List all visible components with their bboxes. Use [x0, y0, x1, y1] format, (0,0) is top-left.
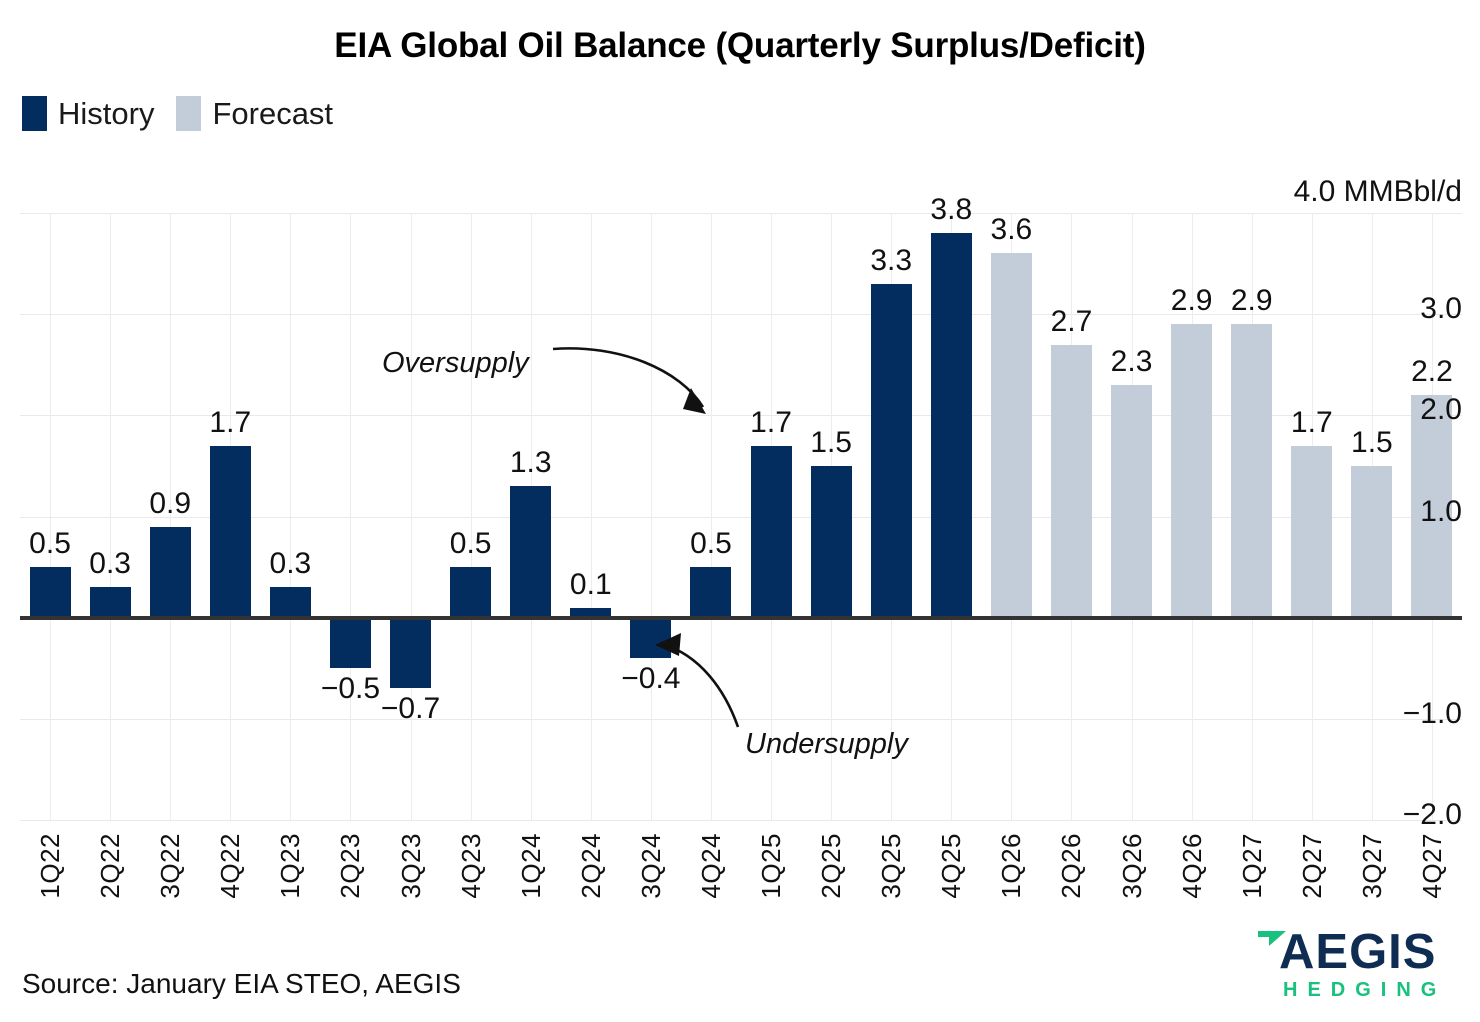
legend-swatch-forecast — [176, 96, 201, 131]
gridline-vertical — [711, 213, 712, 820]
y-tick-label: −2.0 — [1202, 798, 1462, 832]
page-title: EIA Global Oil Balance (Quarterly Surplu… — [0, 26, 1480, 66]
bar-2q26[interactable] — [1051, 345, 1092, 618]
logo-wordmark: AEGIS — [1279, 928, 1436, 977]
gridline-vertical — [110, 213, 111, 820]
x-tick-label: 1Q26 — [996, 833, 1026, 899]
x-tick-label: 2Q24 — [576, 833, 606, 899]
x-tick-label: 3Q24 — [636, 833, 666, 899]
aegis-hedging-logo: AEGIS HEDGING — [1257, 928, 1462, 1006]
x-tick-label: 3Q25 — [876, 833, 906, 899]
x-tick-label: 4Q22 — [215, 833, 245, 899]
bar-4q22[interactable] — [210, 446, 251, 618]
x-tick-label: 2Q27 — [1297, 833, 1327, 899]
x-tick-label: 1Q24 — [516, 833, 546, 899]
bar-3q24[interactable] — [630, 618, 671, 658]
bar-2q25[interactable] — [811, 466, 852, 618]
bar-4q25[interactable] — [931, 233, 972, 617]
x-tick-label: 2Q23 — [335, 833, 365, 899]
bar-value-label: 0.3 — [60, 547, 160, 581]
legend-item-history[interactable]: History — [22, 96, 154, 131]
bar-value-label: 2.2 — [1382, 355, 1480, 389]
gridline-vertical — [350, 213, 351, 820]
legend-label-history: History — [58, 98, 154, 129]
bar-4q24[interactable] — [690, 567, 731, 618]
gridline-vertical — [290, 213, 291, 820]
bar-value-label: 0.5 — [661, 527, 761, 561]
bar-value-label: 0.3 — [240, 547, 340, 581]
bar-value-label: 3.6 — [961, 213, 1061, 247]
x-tick-label: 2Q25 — [816, 833, 846, 899]
bar-value-label: 2.7 — [1021, 305, 1121, 339]
chart-legend: History Forecast — [22, 96, 333, 131]
bar-value-label: 0.5 — [421, 527, 521, 561]
x-tick-label: 4Q27 — [1417, 833, 1447, 899]
x-tick-label: 4Q24 — [696, 833, 726, 899]
x-tick-label: 1Q23 — [275, 833, 305, 899]
bar-value-label: 1.5 — [781, 426, 881, 460]
x-tick-label: 3Q27 — [1357, 833, 1387, 899]
bar-value-label: 1.3 — [481, 446, 581, 480]
x-tick-label: 1Q25 — [756, 833, 786, 899]
legend-label-forecast: Forecast — [212, 98, 333, 129]
bar-2q22[interactable] — [90, 587, 131, 617]
y-tick-label: −1.0 — [1202, 697, 1462, 731]
bar-value-label: 0.9 — [120, 487, 220, 521]
gridline-horizontal — [20, 213, 1462, 214]
bar-value-label: −0.7 — [361, 692, 461, 726]
gridline-vertical — [471, 213, 472, 820]
bar-value-label: 0.1 — [541, 568, 641, 602]
x-tick-label: 4Q26 — [1177, 833, 1207, 899]
bar-3q27[interactable] — [1351, 466, 1392, 618]
logo-subtext: HEDGING — [1283, 980, 1446, 1000]
x-tick-label: 3Q26 — [1117, 833, 1147, 899]
bar-3q26[interactable] — [1111, 385, 1152, 618]
x-tick-label: 4Q25 — [936, 833, 966, 899]
bar-value-label: −0.4 — [601, 662, 701, 696]
gridline-vertical — [411, 213, 412, 820]
x-tick-label: 2Q26 — [1056, 833, 1086, 899]
x-tick-label: 2Q22 — [95, 833, 125, 899]
zero-baseline — [20, 616, 1462, 620]
legend-item-forecast[interactable]: Forecast — [176, 96, 333, 131]
x-tick-label: 1Q27 — [1237, 833, 1267, 899]
bar-1q27[interactable] — [1231, 324, 1272, 617]
bar-value-label: 3.3 — [841, 244, 941, 278]
bar-value-label: 1.5 — [1322, 426, 1422, 460]
annotation-undersupply: Undersupply — [745, 728, 908, 761]
bar-value-label: 2.3 — [1082, 345, 1182, 379]
bar-2q27[interactable] — [1291, 446, 1332, 618]
annotation-oversupply: Oversupply — [382, 347, 529, 380]
y-tick-label: 1.0 — [1202, 495, 1462, 529]
bar-value-label: 1.7 — [180, 406, 280, 440]
gridline-vertical — [591, 213, 592, 820]
gridline-vertical — [651, 213, 652, 820]
y-axis-unit-label: 4.0 MMBbl/d — [1294, 175, 1462, 209]
x-tick-label: 1Q22 — [35, 833, 65, 899]
bar-1q23[interactable] — [270, 587, 311, 617]
bar-2q23[interactable] — [330, 618, 371, 669]
bar-value-label: 2.9 — [1202, 284, 1302, 318]
bar-4q23[interactable] — [450, 567, 491, 618]
x-tick-label: 3Q23 — [396, 833, 426, 899]
x-tick-label: 4Q23 — [456, 833, 486, 899]
source-note: Source: January EIA STEO, AEGIS — [22, 968, 461, 1000]
x-tick-label: 3Q22 — [155, 833, 185, 899]
gridline-vertical — [50, 213, 51, 820]
legend-swatch-history — [22, 96, 47, 131]
